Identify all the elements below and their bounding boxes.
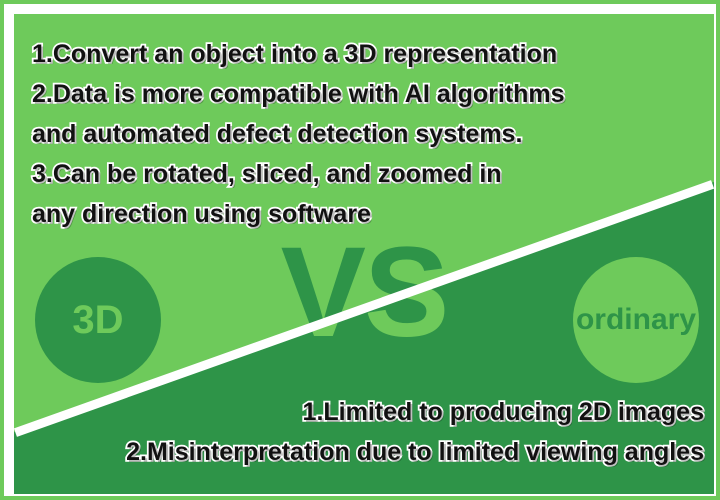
list-item: any direction using software	[32, 194, 692, 234]
ordinary-limitations-list: 1.Limited to producing 2D images 2.Misin…	[24, 392, 704, 472]
list-item: 1.Convert an object into a 3D representa…	[32, 34, 692, 74]
ordinary-bubble-label: ordinary	[576, 303, 696, 337]
list-item: 2.Misinterpretation due to limited viewi…	[24, 432, 704, 472]
white-frame-border: VS VS 3D ordinary 1.Convert an object in…	[4, 4, 716, 496]
3d-advantages-list: 1.Convert an object into a 3D representa…	[32, 34, 692, 234]
list-item: 2.Data is more compatible with AI algori…	[32, 74, 692, 114]
3d-bubble-label: 3D	[72, 298, 123, 343]
comparison-graphic: VS VS 3D ordinary 1.Convert an object in…	[0, 0, 720, 500]
3d-bubble: 3D	[35, 257, 161, 383]
list-item: 3.Can be rotated, sliced, and zoomed in	[32, 154, 692, 194]
list-item: 1.Limited to producing 2D images	[24, 392, 704, 432]
comparison-canvas: VS VS 3D ordinary 1.Convert an object in…	[14, 14, 714, 494]
list-item: and automated defect detection systems.	[32, 114, 692, 154]
ordinary-bubble: ordinary	[573, 257, 699, 383]
